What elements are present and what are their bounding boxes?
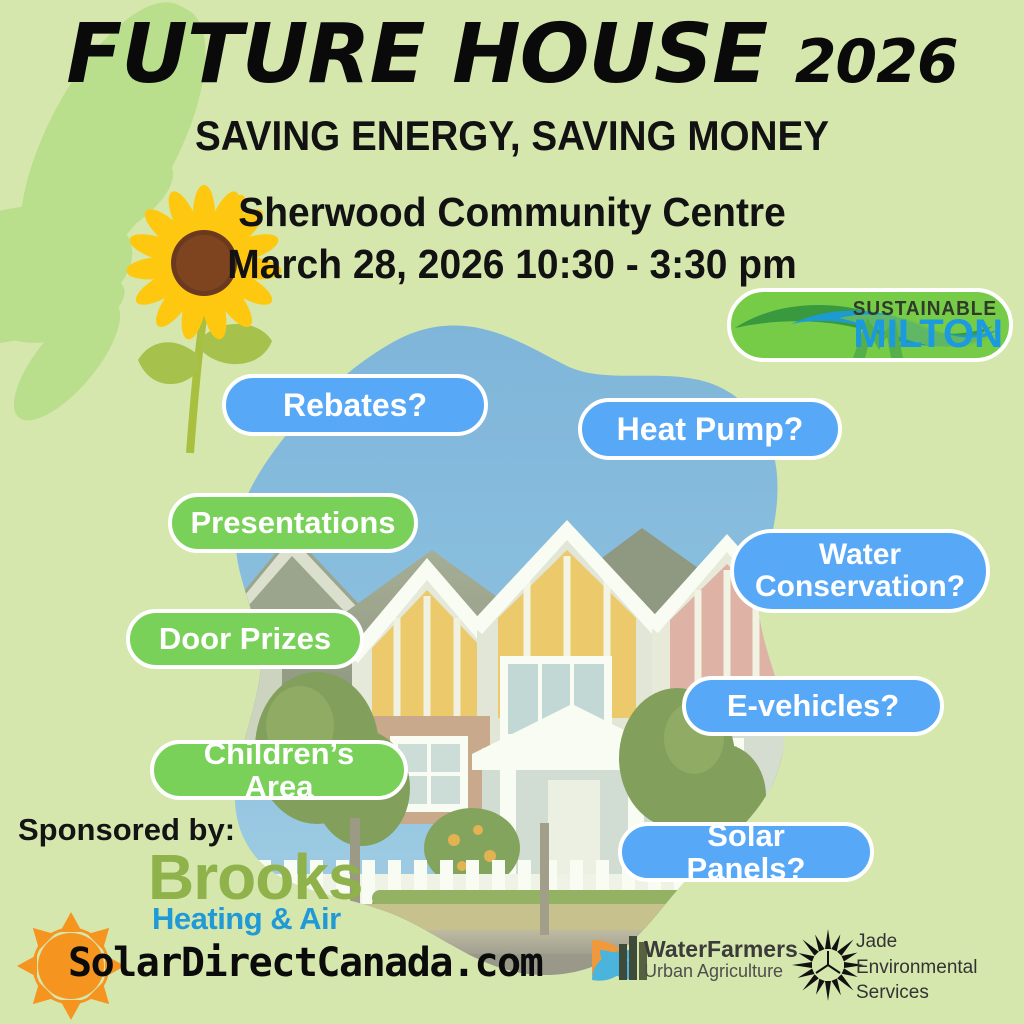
logo-line-bottom: MILTON: [853, 314, 1003, 354]
venue-name: Sherwood Community Centre: [26, 186, 999, 238]
pill-door-prizes[interactable]: Door Prizes: [126, 609, 364, 669]
title-year-text: 2026: [795, 27, 958, 97]
sustainable-milton-logo: SUSTAINABLE MILTON: [727, 288, 1013, 362]
poster-canvas: FUTURE HOUSE 2026 SAVING ENERGY, SAVING …: [0, 0, 1024, 1024]
pill-childrens-area[interactable]: Children’s Area: [150, 740, 408, 800]
pill-solar-panels[interactable]: Solar Panels?: [618, 822, 874, 882]
waterfarmers-name: WaterFarmers: [644, 936, 798, 963]
waterfarmers-tagline: Urban Agriculture: [644, 961, 783, 982]
jade-line-3: Services: [856, 982, 929, 1003]
page-subtitle: SAVING ENERGY, SAVING MONEY: [41, 112, 983, 160]
pill-rebates[interactable]: Rebates?: [222, 374, 488, 436]
pill-water-conservation[interactable]: Water Conservation?: [730, 529, 990, 613]
pill-e-vehicles[interactable]: E-vehicles?: [682, 676, 944, 736]
jade-name: JadeEnvironmentalServices: [856, 929, 977, 1006]
jade-line-1: Jade: [856, 931, 897, 952]
venue-block: Sherwood Community Centre March 28, 2026…: [0, 186, 1024, 291]
solardirectcanada-name: SolarDirectCanada.com: [68, 940, 542, 986]
solardirectcanada-logo: SolarDirectCanada.com: [6, 912, 546, 1020]
brooks-name: Brooks: [148, 848, 363, 907]
title-block: FUTURE HOUSE 2026 SAVING ENERGY, SAVING …: [0, 14, 1024, 160]
pill-presentations[interactable]: Presentations: [168, 493, 418, 553]
page-title: FUTURE HOUSE 2026: [0, 14, 1024, 96]
jade-environmental-logo: JadeEnvironmentalServices: [790, 925, 990, 1005]
pill-heat-pump[interactable]: Heat Pump?: [578, 398, 842, 460]
event-datetime: March 28, 2026 10:30 - 3:30 pm: [26, 238, 999, 290]
waterfarmers-logo: WaterFarmers Urban Agriculture: [586, 930, 766, 992]
jade-line-2: Environmental: [856, 957, 977, 978]
title-main-text: FUTURE HOUSE: [66, 7, 767, 102]
